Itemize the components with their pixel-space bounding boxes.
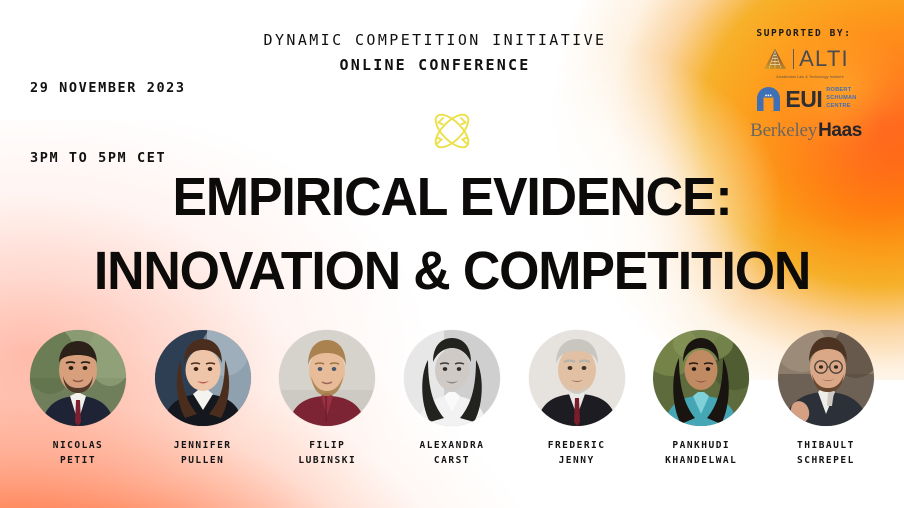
alti-wordmark: ALTI (799, 48, 849, 70)
portrait-pankhudi-khandelwal (653, 330, 749, 426)
sponsor-logo-eui: EUI ROBERT SCHUMAN CENTRE (716, 87, 896, 111)
sponsor-logo-alti: ALTI (716, 48, 896, 70)
alti-tagline: Amsterdam Law & Technology Institute (724, 75, 896, 79)
eui-subtitle-line-1: ROBERT (826, 87, 856, 95)
speaker-name: ALEXANDRA CARST (400, 438, 504, 469)
event-date: 29 NOVEMBER 2023 (30, 77, 186, 100)
sponsors-label: SUPPORTED BY: (716, 28, 896, 39)
eui-subtitle-line-3: CENTRE (826, 103, 856, 111)
speaker-name: PANKHUDI KHANDELWAL (649, 438, 753, 469)
speaker-portrait (778, 330, 874, 426)
speaker-portrait (404, 330, 500, 426)
speaker-name: FILIP LUBINSKI (275, 438, 379, 469)
speaker-card: ALEXANDRA CARST (400, 330, 504, 469)
speaker-card: NICOLAS PETIT (26, 330, 130, 469)
speakers-row: NICOLAS PETIT (0, 330, 904, 469)
speaker-card: FREDERIC JENNY (525, 330, 629, 469)
conference-poster: 29 NOVEMBER 2023 3PM TO 5PM CET DYNAMIC … (0, 0, 904, 508)
title-line-1: EMPIRICAL EVIDENCE: (18, 170, 886, 224)
atom-orbital-icon (421, 100, 483, 162)
sponsor-logo-berkeley-haas: Berkeley Haas (716, 120, 896, 142)
speaker-card: JENNIFER PULLEN (151, 330, 255, 469)
eui-subtitle: ROBERT SCHUMAN CENTRE (826, 87, 856, 111)
title-line-2: INNOVATION & COMPETITION (18, 244, 886, 298)
speaker-card: PANKHUDI KHANDELWAL (649, 330, 753, 469)
portrait-frederic-jenny (529, 330, 625, 426)
speaker-portrait (529, 330, 625, 426)
speaker-name: THIBAULT SCHREPEL (774, 438, 878, 469)
speaker-card: FILIP LUBINSKI (275, 330, 379, 469)
alti-divider (793, 49, 794, 69)
speaker-name: FREDERIC JENNY (525, 438, 629, 469)
speaker-portrait (30, 330, 126, 426)
portrait-jennifer-pullen (155, 330, 251, 426)
portrait-thibault-schrepel (778, 330, 874, 426)
portrait-nicolas-petit (30, 330, 126, 426)
speaker-card: THIBAULT SCHREPEL (774, 330, 878, 469)
sponsors-block: SUPPORTED BY: (716, 28, 896, 149)
portrait-filip-lubinski (279, 330, 375, 426)
poster-title: EMPIRICAL EVIDENCE: INNOVATION & COMPETI… (0, 170, 904, 298)
speaker-portrait (279, 330, 375, 426)
eui-subtitle-line-2: SCHUMAN (826, 95, 856, 103)
speaker-name: JENNIFER PULLEN (151, 438, 255, 469)
eui-arch-icon (755, 87, 782, 111)
haas-wordmark: Haas (818, 120, 862, 142)
alti-triangle-icon (763, 48, 787, 70)
speaker-portrait (155, 330, 251, 426)
eui-wordmark: EUI (785, 88, 822, 111)
portrait-alexandra-carst (404, 330, 500, 426)
speaker-portrait (653, 330, 749, 426)
berkeley-wordmark: Berkeley (750, 120, 817, 142)
event-time: 3PM TO 5PM CET (30, 147, 186, 170)
speaker-name: NICOLAS PETIT (26, 438, 130, 469)
